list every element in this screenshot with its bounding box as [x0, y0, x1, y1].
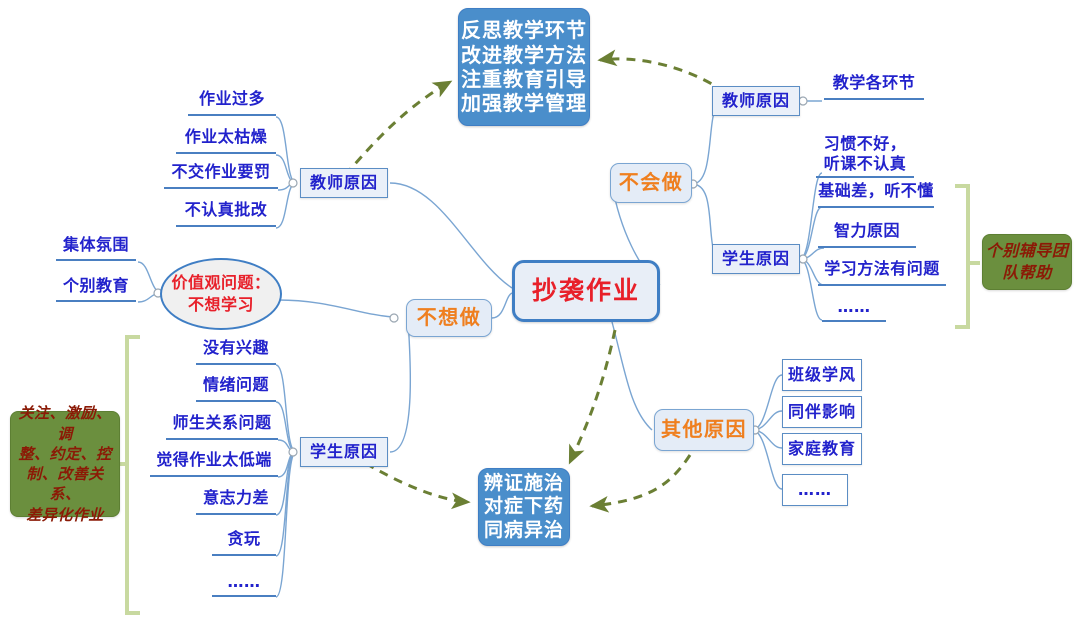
left-teacher-item-3-label: 不认真批改: [185, 201, 268, 220]
underline: [166, 438, 278, 440]
underline: [150, 475, 278, 477]
right-student-item-2[interactable]: 智力原因: [818, 222, 916, 248]
left-student-item-2[interactable]: 师生关系问题: [166, 414, 278, 440]
left-teacher-item-0-label: 作业过多: [199, 90, 265, 109]
underline: [196, 363, 276, 365]
left-teacher-item-2[interactable]: 不交作业要罚: [164, 163, 278, 189]
left-teacher-item-2-label: 不交作业要罚: [171, 163, 270, 182]
left-node-teacher-causes[interactable]: 教师原因: [300, 168, 388, 198]
underline: [164, 187, 278, 189]
branch-cannot-do[interactable]: 不会做: [610, 163, 692, 203]
solution-bottom-box[interactable]: 辨证施治 对症下药 同病异治: [478, 468, 570, 546]
right-student-item-4[interactable]: ……: [822, 298, 886, 322]
left-student-item-3-label: 觉得作业太低端: [156, 451, 272, 470]
arrow-right-teacher-to-top: [600, 59, 725, 92]
right-student-item-0-label: 习惯不好， 听课不认真: [824, 134, 907, 173]
left-student-item-0-label: 没有兴趣: [203, 339, 269, 358]
underline: [818, 206, 934, 208]
wire-group-left-teacher: [276, 117, 512, 288]
left-student-item-1[interactable]: 情绪问题: [196, 376, 276, 402]
underline: [196, 513, 276, 515]
underline: [212, 595, 276, 597]
left-value-item-0-label: 集体氛围: [63, 236, 129, 255]
solution-top-box[interactable]: 反思教学环节 改进教学方法 注重教育引导 加强教学管理: [458, 8, 590, 126]
bracket-right: [955, 186, 980, 327]
left-student-item-4[interactable]: 意志力差: [196, 489, 276, 515]
left-teacher-item-3[interactable]: 不认真批改: [176, 201, 276, 227]
left-value-item-0[interactable]: 集体氛围: [56, 236, 136, 261]
underline: [188, 114, 276, 116]
right-student-item-1-label: 基础差，听不懂: [818, 182, 934, 201]
underline: [824, 98, 924, 100]
left-student-item-4-label: 意志力差: [203, 489, 269, 508]
branch-unwilling-to-do[interactable]: 不想做: [406, 299, 492, 337]
bracket-left: [118, 337, 140, 613]
right-student-item-2-label: 智力原因: [834, 222, 900, 241]
right-teacher-item-0[interactable]: 教学各环节: [824, 74, 924, 100]
right-student-item-0[interactable]: 习惯不好， 听课不认真: [816, 134, 914, 178]
right-green-note[interactable]: 个别辅导团 队帮助: [982, 234, 1072, 290]
right-student-item-3[interactable]: 学习方法有问题: [818, 260, 946, 286]
underline: [212, 554, 276, 556]
left-student-item-5[interactable]: 贪玩: [212, 530, 276, 556]
branch-other-causes[interactable]: 其他原因: [654, 409, 754, 451]
left-value-item-1-label: 个别教育: [63, 277, 129, 296]
right-student-item-1[interactable]: 基础差，听不懂: [818, 182, 934, 208]
left-node-student-causes[interactable]: 学生原因: [300, 437, 388, 467]
underline: [818, 284, 946, 286]
left-student-item-6[interactable]: ……: [212, 573, 276, 597]
right-student-item-4-label: ……: [838, 298, 871, 317]
other-item-1[interactable]: 同伴影响: [782, 396, 862, 428]
arrow-other-to-bottom: [592, 455, 690, 506]
right-student-item-3-label: 学习方法有问题: [824, 260, 940, 279]
arrow-left-teacher-to-top: [345, 82, 450, 175]
underline: [822, 320, 886, 322]
arrow-center-to-bottom: [570, 330, 615, 462]
underline: [818, 246, 916, 248]
left-student-item-6-label: ……: [228, 573, 261, 592]
underline: [816, 176, 914, 178]
left-teacher-item-1-label: 作业太枯燥: [185, 128, 268, 147]
wire-group-right-items: [752, 101, 824, 489]
wire-group-left-value: [138, 262, 162, 302]
underline: [196, 400, 276, 402]
right-teacher-item-0-label: 教学各环节: [833, 74, 916, 93]
left-teacher-item-1[interactable]: 作业太枯燥: [176, 128, 276, 154]
other-item-0[interactable]: 班级学风: [782, 359, 862, 391]
left-value-item-1[interactable]: 个别教育: [56, 277, 136, 302]
other-item-3[interactable]: ……: [782, 474, 848, 506]
center-node-copying-homework[interactable]: 抄袭作业: [512, 260, 660, 322]
left-green-note[interactable]: 关注、激励、调 整、约定、控 制、改善关系、 差异化作业: [10, 411, 120, 517]
left-student-item-0[interactable]: 没有兴趣: [196, 339, 276, 365]
left-teacher-item-0[interactable]: 作业过多: [188, 90, 276, 116]
left-student-item-1-label: 情绪问题: [203, 376, 269, 395]
left-student-item-3[interactable]: 觉得作业太低端: [150, 451, 278, 477]
other-item-2[interactable]: 家庭教育: [782, 433, 862, 465]
left-node-value-problem[interactable]: 价值观问题： 不想学习: [160, 258, 282, 330]
right-node-student-causes[interactable]: 学生原因: [712, 244, 800, 274]
left-student-item-5-label: 贪玩: [227, 530, 260, 549]
underline: [56, 259, 136, 261]
right-node-teacher-causes[interactable]: 教师原因: [712, 86, 800, 116]
underline: [56, 300, 136, 302]
underline: [176, 152, 276, 154]
left-student-item-2-label: 师生关系问题: [172, 414, 271, 433]
underline: [176, 225, 276, 227]
mindmap-canvas: 反思教学环节 改进教学方法 注重教育引导 加强教学管理 辨证施治 对症下药 同病…: [0, 0, 1080, 622]
